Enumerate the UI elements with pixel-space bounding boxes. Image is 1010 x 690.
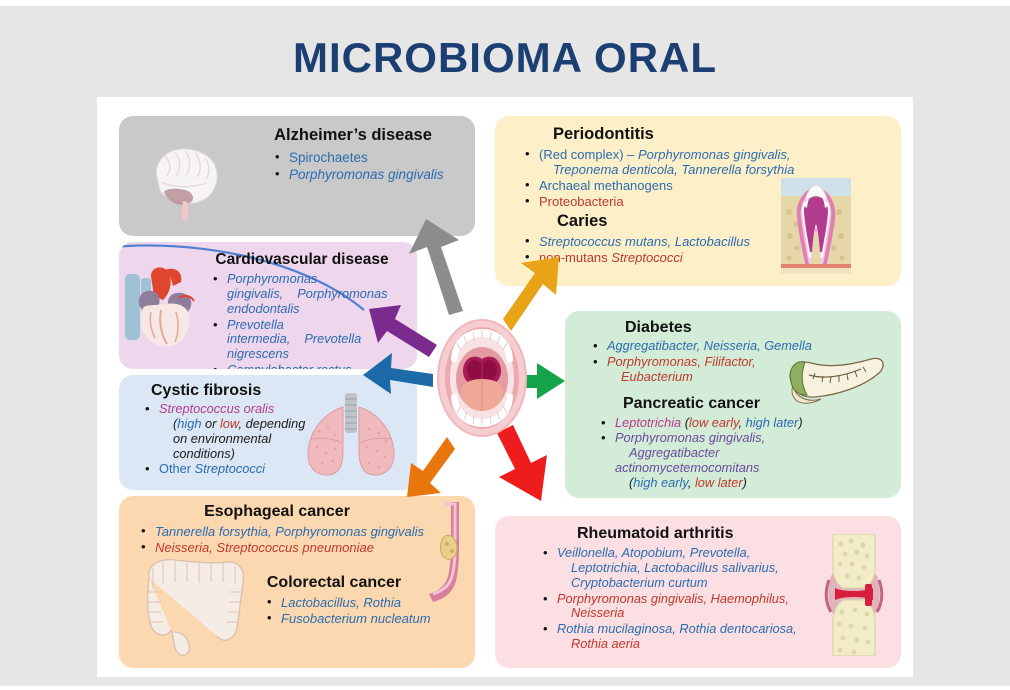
taxa-item: Veillonella, Atopobium, Prevotella,Lepto…	[543, 546, 823, 591]
taxa-item: Leptotrichia (low early, high later)	[601, 416, 861, 431]
taxa-list: Aggregatibacter, Neisseria, GemellaPorph…	[571, 339, 861, 385]
taxa-text: high	[177, 416, 201, 431]
taxa-list: Veillonella, Atopobium, Prevotella,Lepto…	[503, 546, 823, 652]
taxa-text: ,	[688, 475, 695, 490]
taxa-list: Porphyromonas gingivalis,Porphyromonas e…	[191, 272, 413, 369]
box-title: Esophageal cancer	[125, 503, 469, 521]
taxa-item: Fusobacterium nucleatum	[267, 611, 469, 626]
taxa-list-secondary: Lactobacillus, RothiaFusobacterium nucle…	[229, 595, 469, 626]
taxa-text: low	[220, 416, 239, 431]
box-title-secondary: Caries	[503, 212, 833, 231]
taxa-text: Proteobacteria	[539, 194, 624, 209]
brain-icon	[127, 126, 231, 230]
taxa-text: Other	[159, 461, 195, 476]
taxa-item: Porphyromonas, Filifactor,Eubacterium	[593, 355, 861, 385]
box-rheumatoid-arthritis[interactable]: Rheumatoid arthritis Veillonella, Atopob…	[495, 516, 901, 668]
taxa-text: Cryptobacterium curtum	[557, 575, 708, 590]
box-title: Periodontitis	[503, 125, 833, 144]
box-esophageal-colorectal[interactable]: Esophageal cancer Tannerella forsythia, …	[119, 496, 475, 668]
inflamed-joint-icon	[821, 534, 887, 656]
taxa-item: Campylobacter rectus	[213, 363, 413, 369]
taxa-item: Other Streptococci	[145, 462, 317, 477]
taxa-item: Prevotella intermedia,Prevotella nigresc…	[213, 318, 413, 363]
infographic-canvas: Alzheimer’s disease SpirochaetesPorphyro…	[97, 97, 913, 677]
taxa-item: Aggregatibacter, Neisseria, Gemella	[593, 339, 861, 354]
box-cardiovascular[interactable]: Cardiovascular disease Porphyromonas gin…	[119, 242, 417, 369]
taxa-text: Eubacterium	[607, 369, 693, 384]
taxa-text: Streptococci	[611, 250, 683, 265]
taxa-text: Streptococcus oralis	[159, 401, 274, 416]
taxa-text: (	[615, 475, 633, 490]
taxa-item: Porphyromonas gingivalis, Haemophilus,Ne…	[543, 592, 823, 622]
oral-cavity-illustration	[437, 319, 527, 437]
page-title: MICROBIOMA ORAL	[0, 34, 1010, 82]
taxa-text: Veillonella, Atopobium, Prevotella,	[557, 545, 750, 560]
taxa-item: non-mutans Streptococci	[525, 250, 833, 265]
taxa-list: Streptococcus oralis(high or low, depend…	[127, 402, 317, 477]
taxa-text: non-mutans	[539, 250, 611, 265]
taxa-item: Proteobacteria	[525, 194, 833, 209]
taxa-text: Treponema denticola, Tannerella forsythi…	[539, 162, 794, 177]
taxa-text: Rothia mucilaginosa, Rothia dentocariosa…	[557, 621, 797, 636]
taxa-list: Tannerella forsythia, Porphyromonas ging…	[125, 524, 469, 555]
box-diabetes-pancreatic[interactable]: Diabetes Aggregatibacter, Neisseria, Gem…	[565, 311, 901, 498]
taxa-text: Fusobacterium nucleatum	[281, 611, 431, 626]
taxa-text: Streptococcus mutans, Lactobacillus	[539, 234, 750, 249]
box-title: Cystic fibrosis	[127, 382, 317, 400]
bottom-margin-strip	[0, 686, 1010, 690]
taxa-list: SpirochaetesPorphyromonas gingivalis	[239, 150, 467, 182]
taxa-item: Porphyromonas gingivalis	[275, 167, 467, 183]
taxa-text: Porphyromonas gingivalis,	[638, 147, 790, 162]
box-title: Alzheimer’s disease	[239, 126, 467, 145]
taxa-text: high later	[746, 415, 799, 430]
taxa-item: Spirochaetes	[275, 150, 467, 166]
taxa-text: ,	[739, 415, 746, 430]
taxa-text: Leptotrichia	[615, 415, 685, 430]
taxa-text: Prevotella intermedia,	[227, 317, 290, 347]
box-periodontitis-caries[interactable]: Periodontitis (Red complex) – Porphyromo…	[495, 116, 901, 286]
top-margin-strip	[0, 0, 1010, 6]
taxa-item: Streptococcus mutans, Lactobacillus	[525, 234, 833, 249]
box-alzheimer[interactable]: Alzheimer’s disease SpirochaetesPorphyro…	[119, 116, 475, 236]
box-title-secondary: Colorectal cancer	[229, 574, 469, 592]
taxa-text: )	[743, 475, 747, 490]
taxa-list: (Red complex) – Porphyromonas gingivalis…	[503, 147, 833, 209]
taxa-text: Aggregatibacter, Neisseria, Gemella	[607, 338, 812, 353]
taxa-text: or	[201, 416, 220, 431]
taxa-text: Aggregatibacter actinomycetemocomitans	[615, 445, 759, 475]
taxa-text: high early	[633, 475, 688, 490]
taxa-text: Porphyromonas gingivalis	[289, 167, 444, 182]
taxa-text: Porphyromonas gingivalis,	[615, 430, 765, 445]
box-title-secondary: Pancreatic cancer	[571, 395, 861, 413]
taxa-text: Streptococci	[195, 461, 265, 476]
taxa-list-secondary: Streptococcus mutans, Lactobacillusnon-m…	[503, 234, 833, 265]
taxa-text: Archaeal methanogens	[539, 178, 673, 193]
taxa-item: Porphyromonas gingivalis,Porphyromonas e…	[213, 272, 413, 317]
taxa-text: Neisseria	[557, 605, 624, 620]
box-title: Rheumatoid arthritis	[503, 525, 823, 543]
taxa-item: Archaeal methanogens	[525, 178, 833, 193]
box-title: Cardiovascular disease	[191, 251, 413, 269]
taxa-item: Porphyromonas gingivalis,Aggregatibacter…	[601, 431, 861, 490]
taxa-text: Campylobacter rectus	[227, 362, 351, 369]
taxa-item: Streptococcus oralis(high or low, depend…	[145, 402, 317, 461]
taxa-text: Tannerella forsythia, Porphyromonas ging…	[155, 524, 424, 539]
box-title: Diabetes	[571, 319, 861, 337]
taxa-text: Rothia aeria	[557, 636, 640, 651]
taxa-text: )	[798, 415, 802, 430]
taxa-text: low later	[695, 475, 743, 490]
taxa-item: (Red complex) – Porphyromonas gingivalis…	[525, 147, 833, 177]
taxa-text: (	[159, 416, 177, 431]
taxa-text: conditions)	[159, 446, 235, 461]
taxa-text: (Red complex) –	[539, 147, 638, 162]
taxa-item: Tannerella forsythia, Porphyromonas ging…	[141, 524, 469, 539]
taxa-text: Neisseria, Streptococcus pneumoniae	[155, 540, 374, 555]
taxa-text: Lactobacillus, Rothia	[281, 595, 401, 610]
taxa-text: Spirochaetes	[289, 150, 368, 165]
taxa-text: Porphyromonas, Filifactor,	[607, 354, 756, 369]
taxa-text: Porphyromonas gingivalis, Haemophilus,	[557, 591, 789, 606]
taxa-text: Leptotrichia, Lactobacillus salivarius,	[557, 560, 779, 575]
taxa-item: Rothia mucilaginosa, Rothia dentocariosa…	[543, 622, 823, 652]
taxa-text: low early	[689, 415, 739, 430]
taxa-item: Neisseria, Streptococcus pneumoniae	[141, 540, 469, 555]
taxa-item: Lactobacillus, Rothia	[267, 595, 469, 610]
taxa-text: , depending	[238, 416, 305, 431]
box-cystic-fibrosis[interactable]: Cystic fibrosis Streptococcus oralis(hig…	[119, 375, 417, 490]
taxa-text: on environmental	[159, 431, 271, 446]
taxa-list-secondary: Leptotrichia (low early, high later)Porp…	[571, 416, 861, 491]
